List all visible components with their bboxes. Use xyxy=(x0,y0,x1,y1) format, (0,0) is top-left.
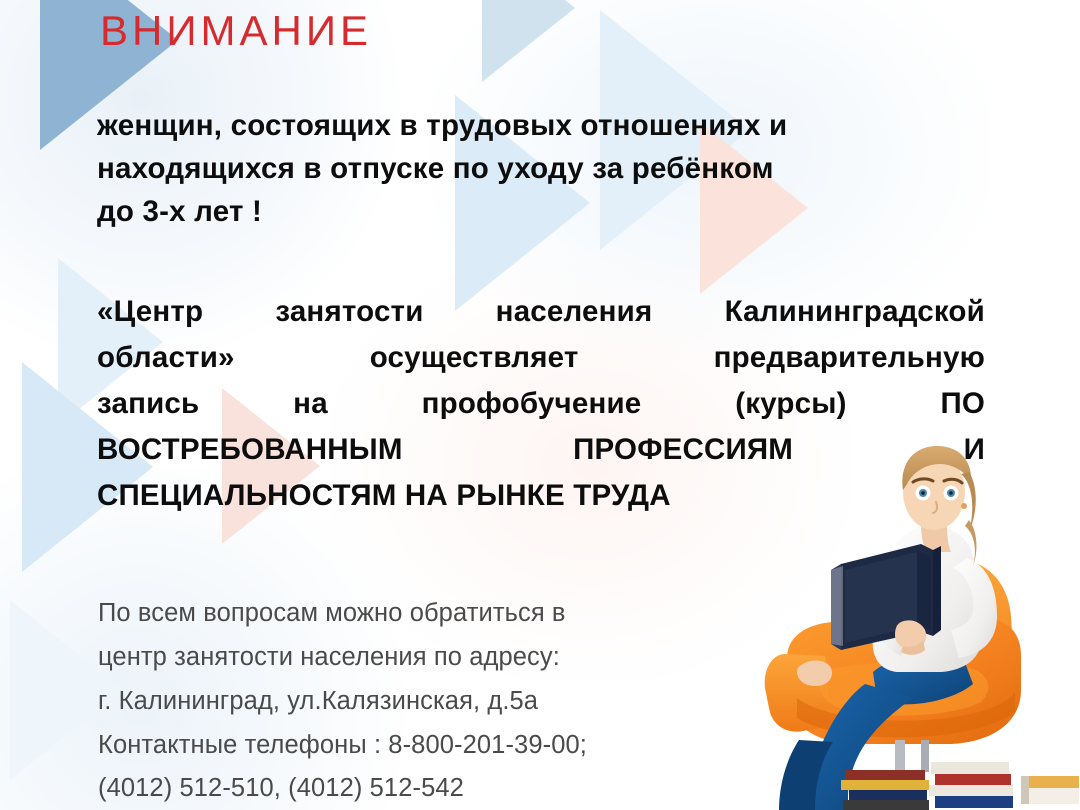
book-stack-left xyxy=(841,770,929,810)
lead-line-2: находящихся в отпуске по уходу за ребёнк… xyxy=(97,147,985,190)
poster-content: ВНИМАНИЕ женщин, состоящих в трудовых от… xyxy=(0,0,1080,810)
book-stack-center xyxy=(929,762,1013,808)
body-line-1-word-2: занятости xyxy=(275,289,423,335)
book-stack-right xyxy=(1021,776,1079,804)
body-line-4-word-1: ВОСТРЕБОВАННЫМ xyxy=(97,427,403,473)
body-line-3-word-3: профобучение xyxy=(422,381,642,427)
illustration-woman-reading xyxy=(745,440,1080,810)
contact-address: г. Калининград, ул.Калязинская, д.5а xyxy=(98,680,738,724)
body-line-1-word-1: «Центр xyxy=(97,289,203,335)
body-line-2-word-2: осуществляет xyxy=(370,335,579,381)
lead-paragraph: женщин, состоящих в трудовых отношениях … xyxy=(97,104,985,233)
body-line-3-word-4: (курсы) xyxy=(735,381,846,427)
body-line-2-word-1: области» xyxy=(97,335,235,381)
body-line-1: «Центр занятости населения Калининградск… xyxy=(97,289,985,335)
body-line-1-word-3: населения xyxy=(496,289,653,335)
body-line-3: запись на профобучение (курсы) ПО xyxy=(97,381,985,427)
contact-paragraph: По всем вопросам можно обратиться в цент… xyxy=(98,592,738,810)
body-line-2-word-3: предварительную xyxy=(714,335,985,381)
body-line-3-word-1: запись xyxy=(97,381,199,427)
contact-phone-line-2: (4012) 512-510, (4012) 512-542 xyxy=(98,767,738,810)
lead-line-3: до 3-х лет ! xyxy=(97,190,985,233)
page-title: ВНИМАНИЕ xyxy=(100,8,372,54)
body-line-3-word-2: на xyxy=(293,381,328,427)
contact-line-2: центр занятости населения по адресу: xyxy=(98,636,738,680)
body-line-3-word-5: ПО xyxy=(940,381,985,427)
poster-canvas: ВНИМАНИЕ женщин, состоящих в трудовых от… xyxy=(0,0,1080,810)
contact-line-1: По всем вопросам можно обратиться в xyxy=(98,592,738,636)
contact-phone-line-1: Контактные телефоны : 8-800-201-39-00; xyxy=(98,724,738,768)
body-line-2: области» осуществляет предварительную xyxy=(97,335,985,381)
body-line-1-word-4: Калининградской xyxy=(725,289,985,335)
lead-line-1: женщин, состоящих в трудовых отношениях … xyxy=(97,104,985,147)
